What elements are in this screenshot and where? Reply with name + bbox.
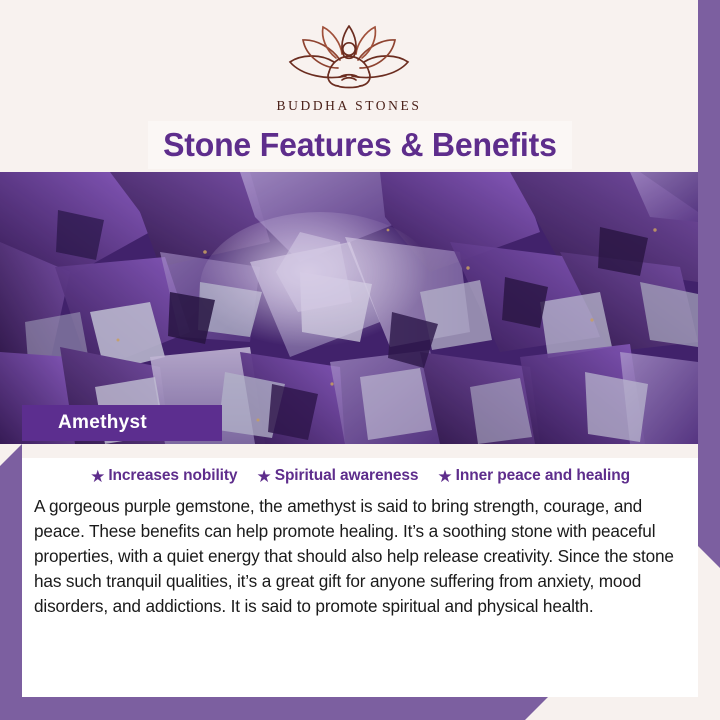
brand-name: BUDDHA STONES: [277, 98, 422, 114]
brand-logo: BUDDHA STONES: [0, 22, 698, 114]
benefit-item: ★ Inner peace and healing: [437, 467, 630, 485]
stone-name-banner: Amethyst: [22, 405, 222, 441]
frame-bottom-bar: [0, 697, 548, 720]
product-info-card: BUDDHA STONES Stone Features & Benefits: [0, 0, 720, 720]
amethyst-crystal-cluster-photo: [0, 172, 698, 444]
benefit-label: Spiritual awareness: [275, 467, 419, 485]
lotus-meditation-icon: [276, 22, 422, 92]
star-icon: ★: [90, 468, 105, 485]
page-title-plate: Stone Features & Benefits: [148, 121, 572, 169]
page-title: Stone Features & Benefits: [163, 126, 557, 164]
benefit-item: ★ Increases nobility: [90, 467, 237, 485]
frame-left-bar: [0, 444, 22, 697]
benefit-label: Increases nobility: [108, 467, 237, 485]
benefits-row: ★ Increases nobility ★ Spiritual awarene…: [22, 467, 698, 485]
amethyst-photo: [0, 172, 698, 444]
benefit-item: ★ Spiritual awareness: [256, 467, 418, 485]
benefit-label: Inner peace and healing: [456, 467, 630, 485]
header: BUDDHA STONES Stone Features & Benefits: [0, 0, 698, 172]
frame-right-bar: [698, 0, 720, 568]
description-card: ★ Increases nobility ★ Spiritual awarene…: [22, 444, 698, 697]
card-top-strip: [22, 444, 698, 458]
star-icon: ★: [256, 468, 271, 485]
stone-description: A gorgeous purple gemstone, the amethyst…: [34, 494, 686, 619]
star-icon: ★: [437, 468, 452, 485]
stone-name: Amethyst: [58, 412, 147, 434]
